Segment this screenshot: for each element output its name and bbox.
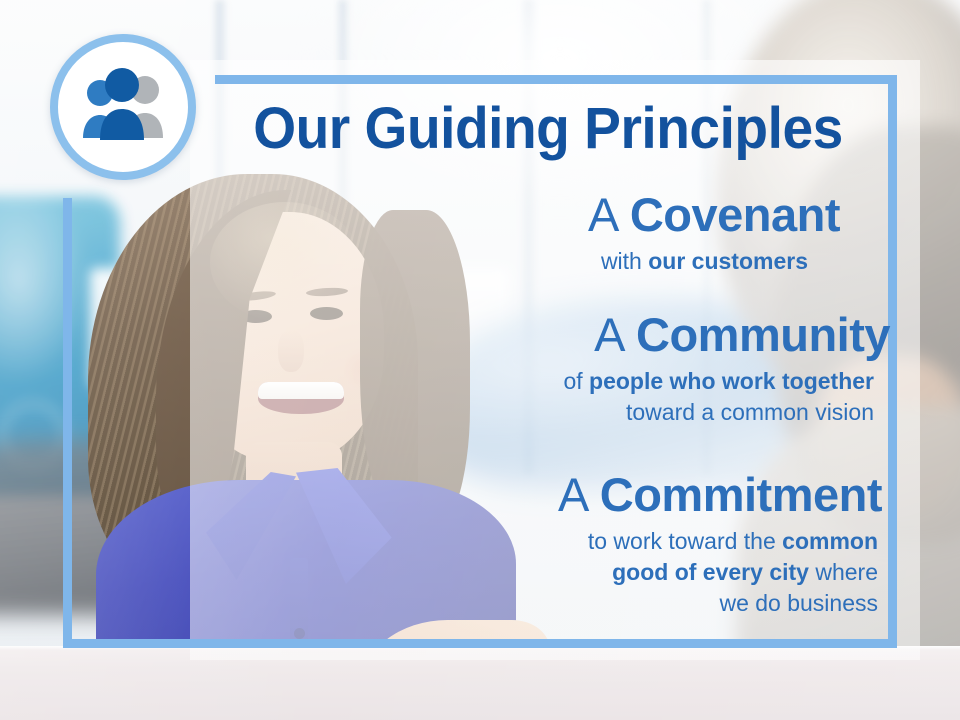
subtext-run-bold: people who work together (589, 368, 874, 394)
subtext-run: to work toward the (588, 528, 782, 554)
principle-article: A (588, 188, 617, 241)
principle-heading: A Community (200, 306, 890, 364)
subtext-line: good of every city where (200, 557, 878, 588)
principle-community: A Community of people who work together … (200, 306, 890, 428)
principle-subtext: to work toward the common good of every … (200, 526, 890, 619)
subtext-run-bold: common (782, 528, 878, 554)
subtext-run: of (563, 368, 589, 394)
principle-word: Covenant (630, 188, 840, 241)
principle-covenant: A Covenant with our customers (200, 186, 890, 277)
page-title: Our Guiding Principles (235, 98, 862, 160)
subtext-run: with (601, 248, 648, 274)
desk-edge-highlight (0, 646, 960, 650)
principle-subtext: of people who work together toward a com… (200, 366, 890, 428)
subtext-run-bold: our customers (648, 248, 808, 274)
subtext-line: we do business (200, 588, 878, 619)
principle-heading: A Covenant (200, 186, 890, 244)
principle-heading: A Commitment (200, 466, 890, 524)
text-content: Our Guiding Principles A Covenant with o… (200, 80, 890, 640)
guiding-principles-graphic: FLOW FLOW AUTOMOTIVE (0, 0, 960, 720)
principle-subtext: with our customers (200, 246, 890, 277)
principle-word: Commitment (600, 468, 882, 521)
subtext-run: where (809, 559, 878, 585)
subtext-line: toward a common vision (200, 397, 874, 428)
subtext-line: to work toward the common (200, 526, 878, 557)
subtext-line: of people who work together (200, 366, 874, 397)
principle-word: Community (636, 308, 890, 361)
people-group-badge (50, 34, 196, 180)
subtext-run-bold: good of every city (612, 559, 809, 585)
desk-surface (0, 646, 960, 720)
principle-commitment: A Commitment to work toward the common g… (200, 466, 890, 619)
people-group-icon (71, 68, 175, 146)
principle-article: A (594, 308, 623, 361)
principle-article: A (558, 468, 587, 521)
